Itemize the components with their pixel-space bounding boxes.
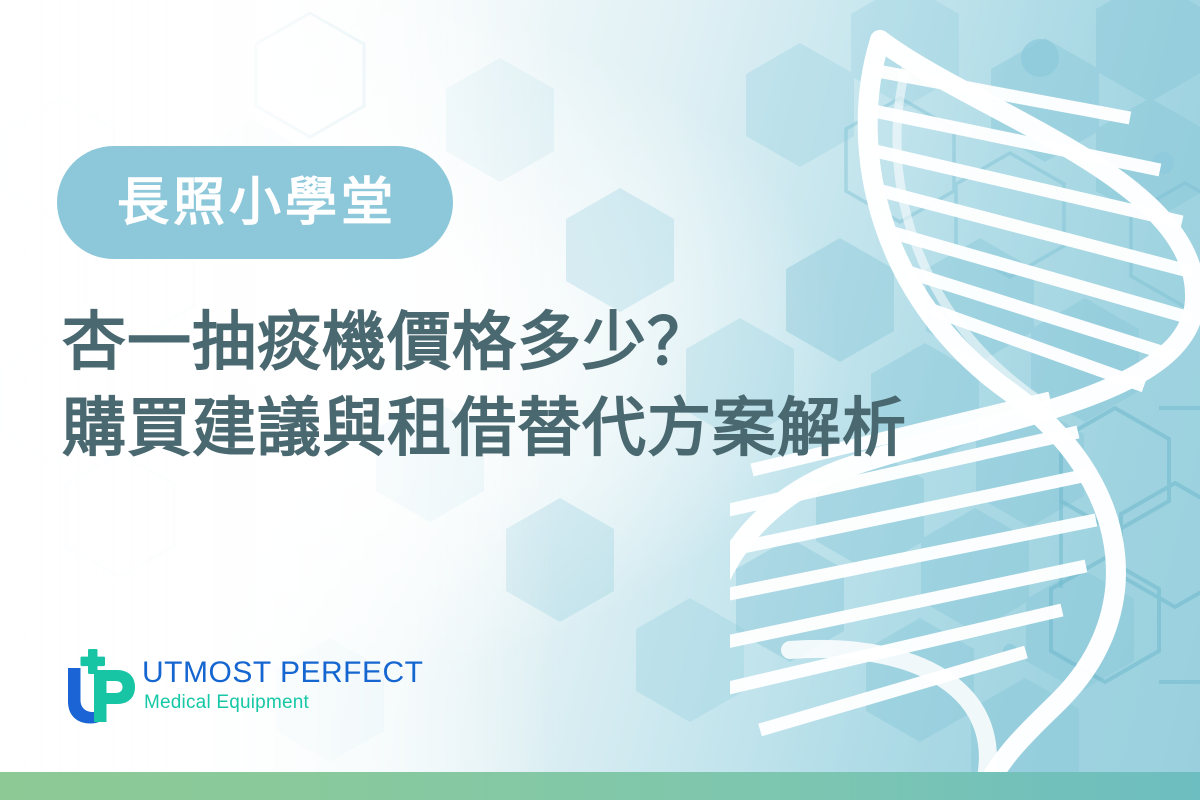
page-title-line-2: 購買建議與租借替代方案解析 [62,386,942,472]
page-title-line-1: 杏一抽痰機價格多少？ [62,300,942,386]
brand-logo[interactable]: UTMOST PERFECT Medical Equipment [62,648,423,724]
category-badge-label: 長照小學堂 [113,177,397,229]
brand-logo-text: UTMOST PERFECT Medical Equipment [142,657,423,715]
page-title: 杏一抽痰機價格多少？ 購買建議與租借替代方案解析 [62,300,942,472]
article-hero-banner: 長照小學堂 杏一抽痰機價格多少？ 購買建議與租借替代方案解析 UTMOST PE… [0,0,1200,800]
brand-tagline: Medical Equipment [144,692,423,715]
category-badge: 長照小學堂 [57,146,453,259]
utmost-perfect-logomark-icon [62,648,136,724]
bottom-accent-bar [0,772,1200,800]
brand-name: UTMOST PERFECT [142,657,423,689]
